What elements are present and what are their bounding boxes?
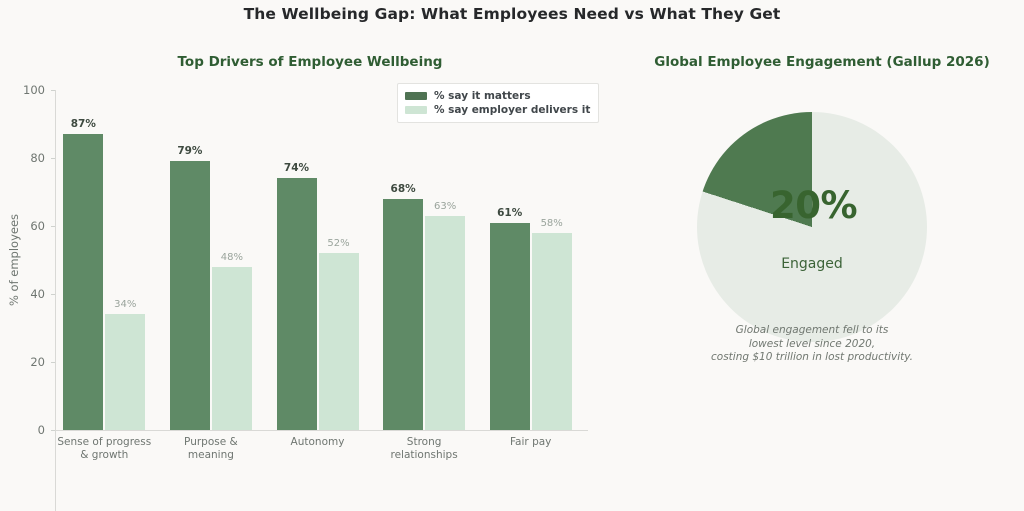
- pie-graphic: [697, 112, 927, 342]
- legend-label: % say employer delivers it: [434, 104, 590, 116]
- legend-swatch-icon: [405, 106, 427, 114]
- bar-value-label: 74%: [267, 162, 327, 174]
- bar-matters: [63, 134, 103, 430]
- pie-caption-line: Global engagement fell to its: [697, 324, 927, 338]
- legend-item: % say it matters: [405, 89, 590, 102]
- bar-value-label: 87%: [53, 118, 113, 130]
- bar-delivers: [105, 314, 145, 430]
- y-tick-label: 40: [5, 287, 45, 301]
- pie-chart-title: Global Employee Engagement (Gallup 2026): [620, 54, 1024, 70]
- y-tick-mark: [51, 294, 55, 295]
- legend-label: % say it matters: [434, 90, 531, 102]
- pie-caption: Global engagement fell to its lowest lev…: [697, 324, 927, 365]
- pie-caption-line: costing $10 trillion in lost productivit…: [697, 351, 927, 365]
- pie-engaged-slice: [697, 112, 927, 342]
- y-tick-label: 0: [5, 423, 45, 437]
- bar-delivers: [532, 233, 572, 430]
- y-tick-mark: [51, 226, 55, 227]
- bar-chart-panel: Top Drivers of Employee Wellbeing % of e…: [0, 78, 610, 470]
- bar-delivers: [425, 216, 465, 430]
- bar-value-label: 48%: [202, 252, 262, 263]
- bar-value-label: 34%: [95, 299, 155, 310]
- y-tick-mark: [51, 158, 55, 159]
- bar-value-label: 68%: [373, 183, 433, 195]
- x-category-label-line: Fair pay: [466, 436, 596, 449]
- x-category-label-line: meaning: [146, 449, 276, 462]
- chart-legend: % say it matters % say employer delivers…: [397, 83, 599, 123]
- bar-value-label: 61%: [480, 207, 540, 219]
- bar-delivers: [212, 267, 252, 430]
- chart-canvas: The Wellbeing Gap: What Employees Need v…: [0, 0, 1024, 470]
- legend-item: % say employer delivers it: [405, 103, 590, 116]
- y-tick-label: 20: [5, 355, 45, 369]
- x-category-label: Fair pay: [466, 436, 596, 449]
- bar-matters: [170, 161, 210, 430]
- bar-value-label: 52%: [309, 238, 369, 249]
- y-axis-title: % of employees: [7, 200, 21, 320]
- bar-value-label: 58%: [522, 218, 582, 229]
- x-axis-spine: [55, 430, 588, 431]
- bar-matters: [277, 178, 317, 430]
- bar-value-label: 79%: [160, 145, 220, 157]
- bar-matters: [383, 199, 423, 430]
- bar-delivers: [319, 253, 359, 430]
- pie-center-label: Engaged: [727, 256, 897, 272]
- x-category-label-line: relationships: [359, 449, 489, 462]
- bar-matters: [490, 223, 530, 430]
- legend-swatch-icon: [405, 92, 427, 100]
- bar-chart-title: Top Drivers of Employee Wellbeing: [60, 54, 560, 70]
- pie-caption-line: lowest level since 2020,: [697, 338, 927, 352]
- pie-background-slice: [697, 112, 927, 342]
- pie-center-value: 20%: [770, 184, 930, 227]
- y-tick-label: 100: [5, 83, 45, 97]
- y-tick-label: 60: [5, 219, 45, 233]
- bar-value-label: 63%: [415, 201, 475, 212]
- y-tick-mark: [51, 90, 55, 91]
- y-tick-mark: [51, 430, 55, 431]
- page-title: The Wellbeing Gap: What Employees Need v…: [0, 5, 1024, 23]
- y-tick-mark: [51, 362, 55, 363]
- y-tick-label: 80: [5, 151, 45, 165]
- pie-chart-panel: Global Employee Engagement (Gallup 2026)…: [620, 78, 1024, 470]
